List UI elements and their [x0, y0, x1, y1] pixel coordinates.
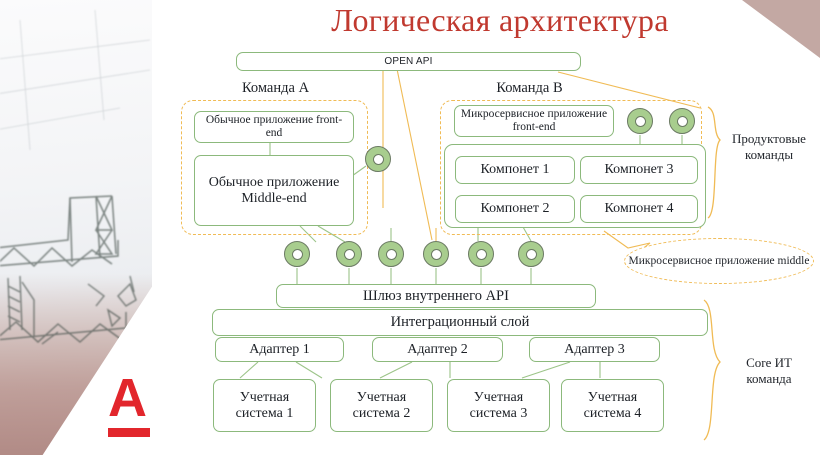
open-api-box[interactable]: OPEN API: [236, 52, 581, 71]
api-interface-ring-m3[interactable]: [378, 241, 404, 267]
api-interface-ring-m5[interactable]: [468, 241, 494, 267]
api-interface-ring-b2[interactable]: [669, 108, 695, 134]
api-interface-ring-m6[interactable]: [518, 241, 544, 267]
component-1-box[interactable]: Компонет 1: [455, 156, 575, 184]
slide-canvas: А Логическая архитектура: [0, 0, 820, 455]
accounting-system-2-box[interactable]: Учетная система 2: [330, 379, 433, 432]
api-interface-ring-a1[interactable]: [365, 146, 391, 172]
team-b-frontend-box[interactable]: Микросервисное приложение front-end: [454, 105, 614, 137]
accounting-system-1-box[interactable]: Учетная система 1: [213, 379, 316, 432]
component-4-box[interactable]: Компонет 4: [580, 195, 698, 223]
accounting-system-4-box[interactable]: Учетная система 4: [561, 379, 664, 432]
api-interface-ring-m1[interactable]: [284, 241, 310, 267]
api-interface-ring-m2[interactable]: [336, 241, 362, 267]
component-3-box[interactable]: Компонет 3: [580, 156, 698, 184]
integration-layer-box[interactable]: Интеграционный слой: [212, 309, 708, 336]
team-a-frontend-box[interactable]: Обычное приложение front-end: [194, 111, 354, 143]
logo-letter: А: [108, 372, 160, 424]
accounting-system-3-box[interactable]: Учетная система 3: [447, 379, 550, 432]
adapter-3-box[interactable]: Адаптер 3: [529, 337, 660, 362]
adapter-2-box[interactable]: Адаптер 2: [372, 337, 503, 362]
api-interface-ring-b1[interactable]: [627, 108, 653, 134]
microservice-middle-callout: Микросервисное приложение middle: [624, 238, 814, 284]
alfa-bank-logo: А: [108, 372, 160, 444]
team-b-label: Команда B: [452, 80, 607, 97]
team-a-label: Команда A: [198, 80, 353, 97]
logo-underline-bar: [108, 428, 150, 437]
core-it-team-annotation: Core ИТ команда: [722, 355, 816, 388]
api-interface-ring-m4[interactable]: [423, 241, 449, 267]
adapter-1-box[interactable]: Адаптер 1: [215, 337, 344, 362]
page-title: Логическая архитектура: [240, 2, 760, 39]
component-2-box[interactable]: Компонет 2: [455, 195, 575, 223]
internal-api-gateway-box[interactable]: Шлюз внутреннего API: [276, 284, 596, 308]
product-teams-annotation: Продуктовые команды: [722, 131, 816, 164]
team-a-middleend-box[interactable]: Обычное приложение Middle-end: [194, 155, 354, 226]
